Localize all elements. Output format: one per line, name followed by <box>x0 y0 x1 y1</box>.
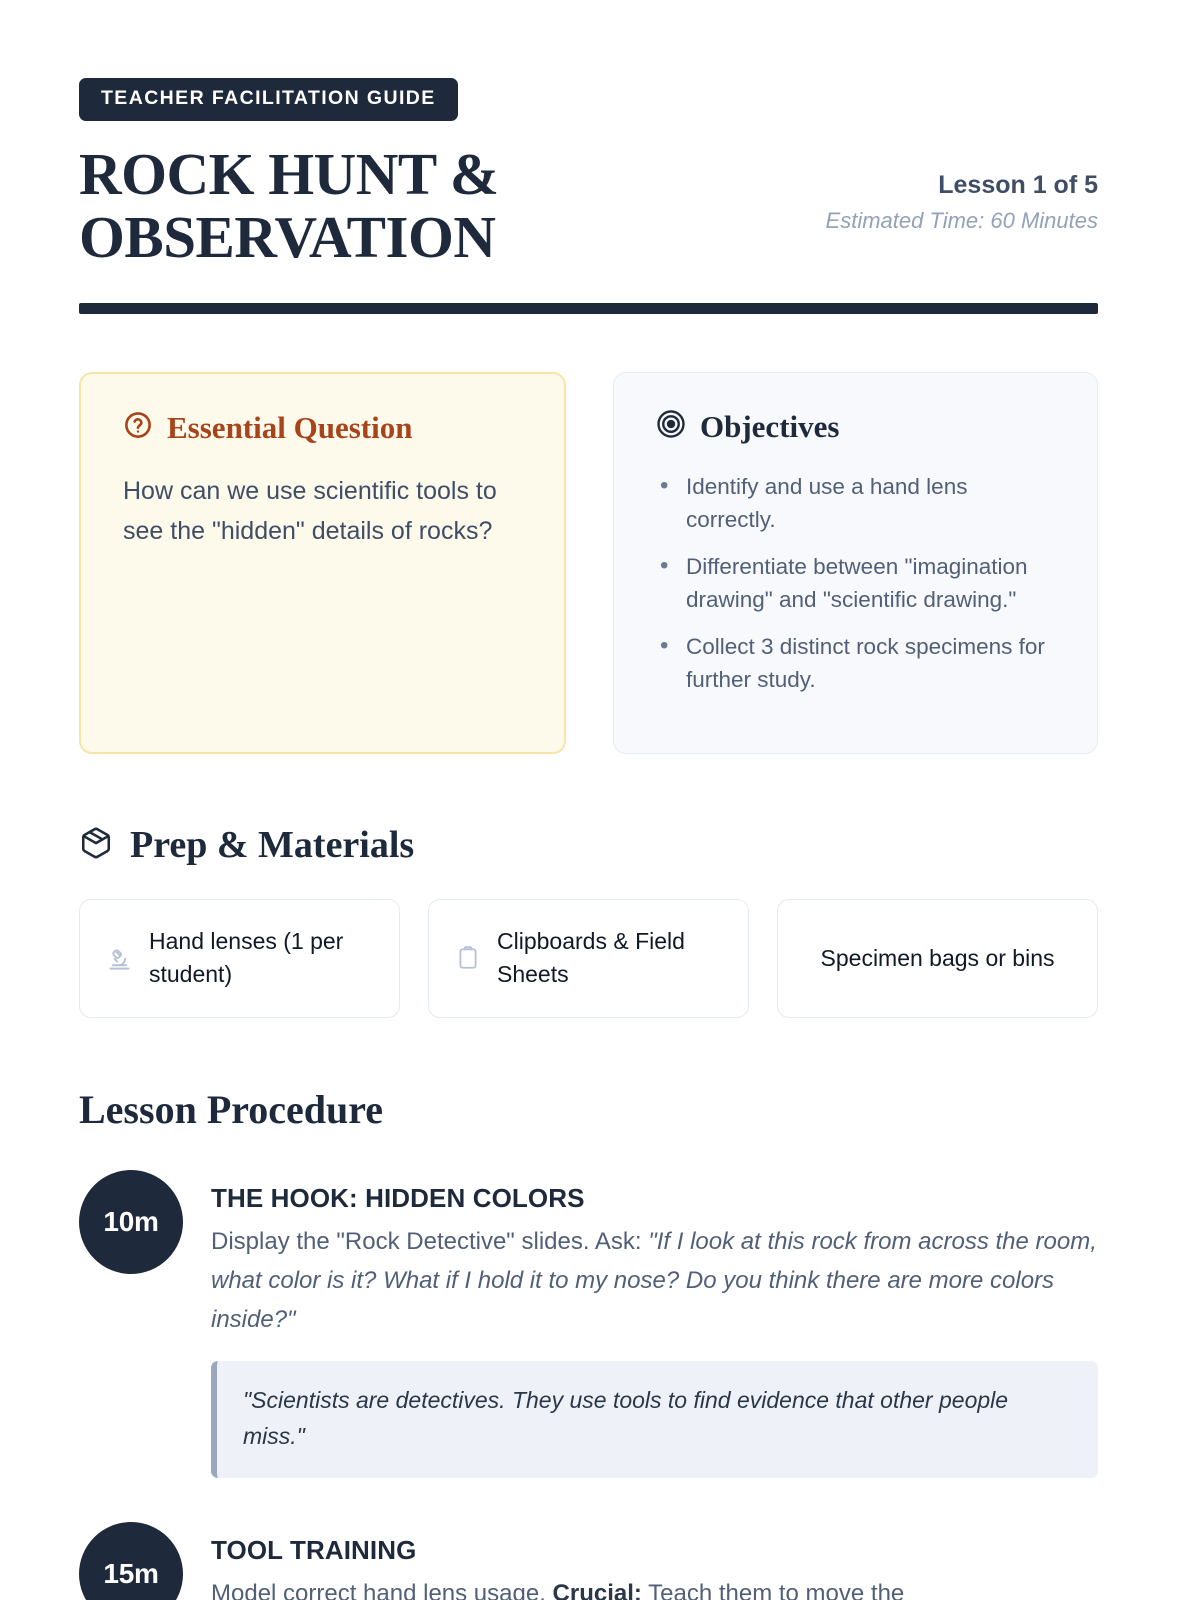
teacher-script-callout: "Scientists are detectives. They use too… <box>211 1361 1098 1477</box>
objectives-title: Objectives <box>700 411 839 442</box>
step-duration-badge: 10m <box>79 1170 183 1274</box>
guide-type-badge: TEACHER FACILITATION GUIDE <box>79 78 458 121</box>
essential-question-card: Essential Question How can we use scient… <box>79 372 566 754</box>
question-circle-icon <box>123 410 153 445</box>
procedure-step: 15m TOOL TRAINING Model correct hand len… <box>79 1522 1098 1600</box>
material-card[interactable]: Hand lenses (1 per student) <box>79 899 400 1018</box>
objectives-list: Identify and use a hand lens correctly. … <box>656 470 1057 696</box>
step-title: TOOL TRAINING <box>211 1535 1098 1566</box>
step-description: Model correct hand lens usage. Crucial: … <box>211 1575 1098 1600</box>
summary-cards: Essential Question How can we use scient… <box>79 372 1098 754</box>
page-title: ROCK HUNT & OBSERVATION <box>79 143 639 269</box>
objectives-card: Objectives Identify and use a hand lens … <box>613 372 1098 754</box>
procedure-heading: Lesson Procedure <box>79 1090 1098 1130</box>
objectives-header: Objectives <box>656 409 1057 444</box>
list-item: Differentiate between "imagination drawi… <box>656 550 1057 616</box>
material-card[interactable]: Specimen bags or bins <box>777 899 1098 1018</box>
material-label: Clipboards & Field Sheets <box>497 925 722 991</box>
material-label: Specimen bags or bins <box>821 942 1055 975</box>
list-item: Identify and use a hand lens correctly. <box>656 470 1057 536</box>
clipboard-icon <box>455 945 481 971</box>
procedure-steps: 10m THE HOOK: HIDDEN COLORS Display the … <box>79 1170 1098 1600</box>
step-title: THE HOOK: HIDDEN COLORS <box>211 1183 1098 1214</box>
step-text-plain: Display the "Rock Detective" slides. Ask… <box>211 1228 648 1255</box>
header-meta: Lesson 1 of 5 Estimated Time: 60 Minutes <box>798 78 1098 237</box>
step-text-plain: Model correct hand lens usage. <box>211 1580 553 1600</box>
essential-question-header: Essential Question <box>123 410 524 445</box>
step-body: TOOL TRAINING Model correct hand lens us… <box>211 1522 1098 1600</box>
prep-materials-title: Prep & Materials <box>130 826 414 864</box>
essential-question-title: Essential Question <box>167 412 412 443</box>
essential-question-text: How can we use scientific tools to see t… <box>123 471 524 552</box>
lesson-guide-page: TEACHER FACILITATION GUIDE ROCK HUNT & O… <box>0 0 1200 1600</box>
materials-list: Hand lenses (1 per student) Clipboards &… <box>79 899 1098 1018</box>
estimated-time: Estimated Time: 60 Minutes <box>798 205 1098 237</box>
page-header: TEACHER FACILITATION GUIDE ROCK HUNT & O… <box>79 78 1098 269</box>
box-icon <box>79 826 113 865</box>
material-label: Hand lenses (1 per student) <box>149 925 373 991</box>
header-left: TEACHER FACILITATION GUIDE ROCK HUNT & O… <box>79 78 639 269</box>
step-duration-badge: 15m <box>79 1522 183 1600</box>
microscope-icon <box>106 945 133 972</box>
step-text-emphasis: Crucial: <box>553 1580 642 1600</box>
list-item: Collect 3 distinct rock specimens for fu… <box>656 630 1057 696</box>
step-body: THE HOOK: HIDDEN COLORS Display the "Roc… <box>211 1170 1098 1478</box>
material-card[interactable]: Clipboards & Field Sheets <box>428 899 749 1018</box>
lesson-counter: Lesson 1 of 5 <box>798 170 1098 201</box>
header-divider <box>79 303 1098 314</box>
step-description: Display the "Rock Detective" slides. Ask… <box>211 1223 1098 1340</box>
procedure-step: 10m THE HOOK: HIDDEN COLORS Display the … <box>79 1170 1098 1478</box>
step-text-plain-cont: Teach them to move the <box>642 1580 904 1600</box>
prep-materials-heading: Prep & Materials <box>79 826 1098 865</box>
target-icon <box>656 409 686 444</box>
